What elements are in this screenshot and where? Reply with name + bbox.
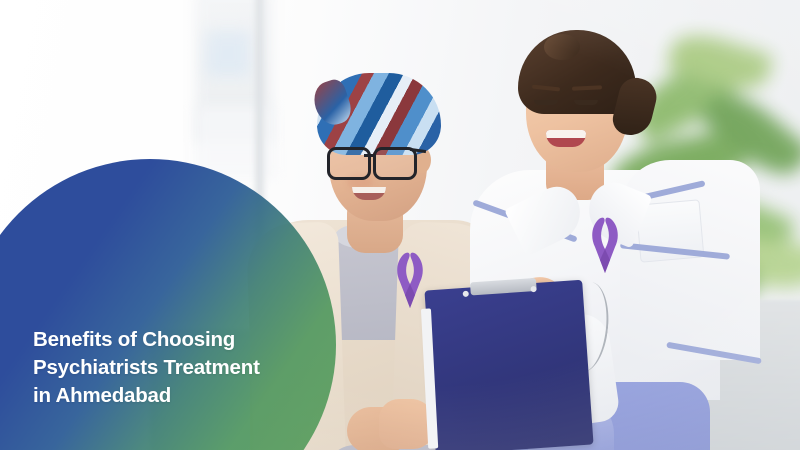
nurse-eye-right <box>574 100 598 105</box>
clipboard-rivet <box>530 286 536 292</box>
wall-picture-frame-upper-art <box>206 30 250 76</box>
awareness-ribbon-icon <box>393 251 427 309</box>
patient-eyeglass-left-lens <box>327 147 371 180</box>
clipboard <box>424 280 593 450</box>
nurse-smiling-mouth <box>546 130 586 147</box>
blog-banner: Benefits of Choosing Psychiatrists Treat… <box>0 0 800 450</box>
patient-eyeglass-bridge <box>364 154 375 157</box>
patient-eyeglass-right-lens <box>373 147 417 180</box>
banner-headline: Benefits of Choosing Psychiatrists Treat… <box>33 326 323 410</box>
nurse-teeth <box>546 130 586 138</box>
patient-teeth <box>352 187 386 193</box>
awareness-ribbon-icon <box>588 216 622 274</box>
nurse-eye-left <box>534 100 558 105</box>
clipboard-rivet <box>463 291 469 297</box>
nurse-hair-part <box>544 34 580 60</box>
